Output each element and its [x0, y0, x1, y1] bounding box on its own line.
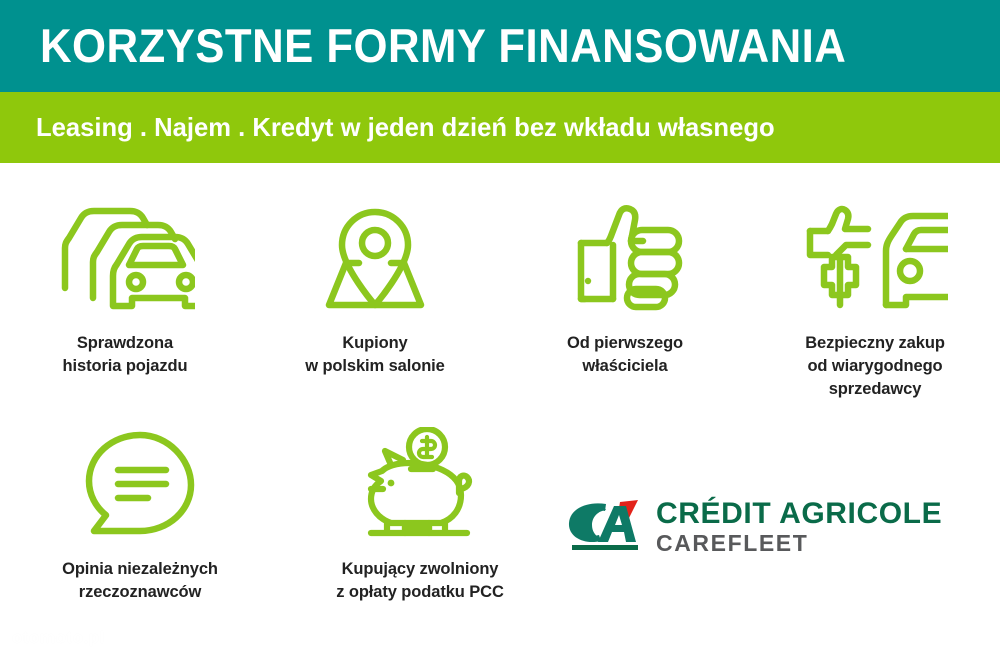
feature-trusted-seller: Bezpieczny zakup od wiarygodnego sprzeda…	[750, 198, 1000, 401]
cars-stack-icon	[55, 198, 195, 316]
logo-line-carefleet: CAREFLEET	[656, 530, 942, 556]
speech-bubble-lines-icon	[82, 424, 198, 542]
logo-line-credit-agricole: CRÉDIT AGRICOLE	[656, 497, 942, 530]
feature-pcc-tax-exempt: Kupujący zwolniony z opłaty podatku PCC	[280, 424, 560, 604]
piggy-bank-coin-icon	[357, 424, 483, 542]
feature-vehicle-history: Sprawdzona historia pojazdu	[0, 198, 250, 378]
feature-polish-dealer: Kupiony w polskim salonie	[250, 198, 500, 378]
feature-row-1: Sprawdzona historia pojazdu Kupiony w po…	[0, 198, 1000, 401]
feature-label: Kupujący zwolniony z opłaty podatku PCC	[336, 558, 504, 604]
hand-key-car-icon	[802, 198, 948, 316]
feature-row-2: Opinia niezależnych rzeczoznawców	[0, 424, 560, 604]
map-pin-icon	[315, 198, 435, 316]
banner-title: KORZYSTNE FORMY FINANSOWANIA	[40, 17, 905, 75]
promo-banner: KORZYSTNE FORMY FINANSOWANIA Leasing . N…	[0, 0, 1000, 654]
feature-label: Bezpieczny zakup od wiarygodnego sprzeda…	[805, 332, 945, 401]
feature-label: Od pierwszego właściciela	[567, 332, 683, 378]
thumbs-up-icon	[563, 198, 687, 316]
feature-label: Opinia niezależnych rzeczoznawców	[62, 558, 218, 604]
feature-expert-opinion: Opinia niezależnych rzeczoznawców	[0, 424, 280, 604]
watermark: otomoto.pl	[12, 628, 105, 648]
feature-label: Sprawdzona historia pojazdu	[63, 332, 188, 378]
feature-label: Kupiony w polskim salonie	[305, 332, 445, 378]
banner-subtitle: Leasing . Najem . Kredyt w jeden dzień b…	[36, 109, 967, 145]
credit-agricole-ca-mark	[568, 498, 644, 554]
logo-wordmark: CRÉDIT AGRICOLE CAREFLEET	[656, 497, 942, 556]
feature-first-owner: Od pierwszego właściciela	[500, 198, 750, 378]
credit-agricole-logo: CRÉDIT AGRICOLE CAREFLEET	[568, 492, 958, 560]
